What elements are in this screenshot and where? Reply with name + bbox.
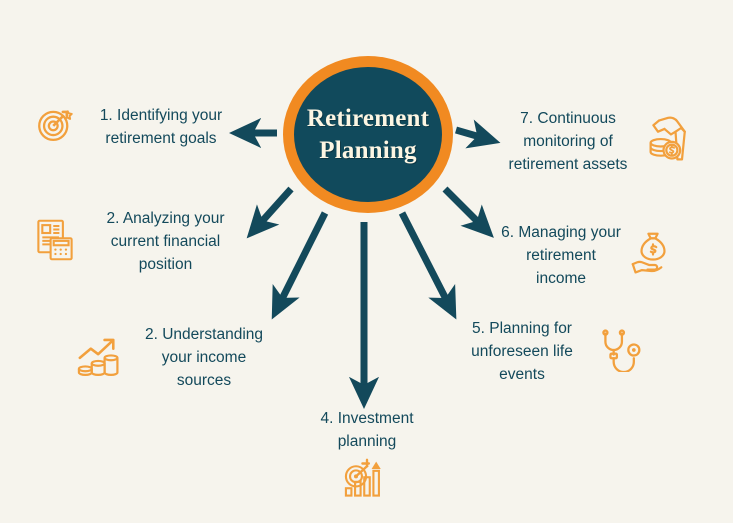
arrow-to-node-6 (445, 189, 484, 228)
node-label: 4. Investment planning (320, 408, 413, 454)
node-label: 7. Continuous monitoring of retirement a… (494, 108, 642, 177)
node-label: 6. Managing your retirement income (496, 222, 626, 291)
node-identifying-retirement-goals[interactable]: 1. Identifying your retirement goals (34, 104, 246, 151)
node-label: 2. Analyzing your current financial posi… (88, 208, 243, 277)
node-label: 1. Identifying your retirement goals (86, 105, 236, 151)
arrow-to-node-5 (402, 213, 450, 307)
document-calculator-icon (34, 217, 76, 268)
arrow-to-node-2 (256, 189, 291, 228)
money-bag-hand-icon (630, 231, 676, 282)
page-title: Retirement Planning (307, 103, 429, 166)
arrow-to-node-3 (278, 213, 325, 307)
hand-coin-stack-icon (646, 115, 694, 170)
central-hub: Retirement Planning (283, 56, 453, 213)
node-label: 2. Understanding your income sources (134, 324, 274, 393)
node-analyzing-current-financial-position[interactable]: 2. Analyzing your current financial posi… (34, 208, 259, 277)
node-planning-unforeseen-life-events[interactable]: 5. Planning for unforeseen life events (452, 318, 652, 387)
arrow-to-node-7 (456, 130, 487, 139)
node-managing-retirement-income[interactable]: 6. Managing your retirement income (496, 222, 681, 291)
diagram-canvas: Retirement Planning 1. Identifying your … (0, 0, 733, 523)
target-bar-chart-icon (342, 458, 392, 507)
node-label: 5. Planning for unforeseen life events (452, 318, 592, 387)
target-arrow-icon (34, 104, 76, 151)
node-understanding-income-sources[interactable]: 2. Understanding your income sources (76, 324, 286, 393)
growth-coins-icon (76, 334, 124, 383)
stethoscope-icon (598, 328, 644, 377)
node-investment-planning[interactable]: 4. Investment planning (292, 408, 442, 507)
node-continuous-monitoring-retirement-assets[interactable]: 7. Continuous monitoring of retirement a… (494, 108, 704, 177)
